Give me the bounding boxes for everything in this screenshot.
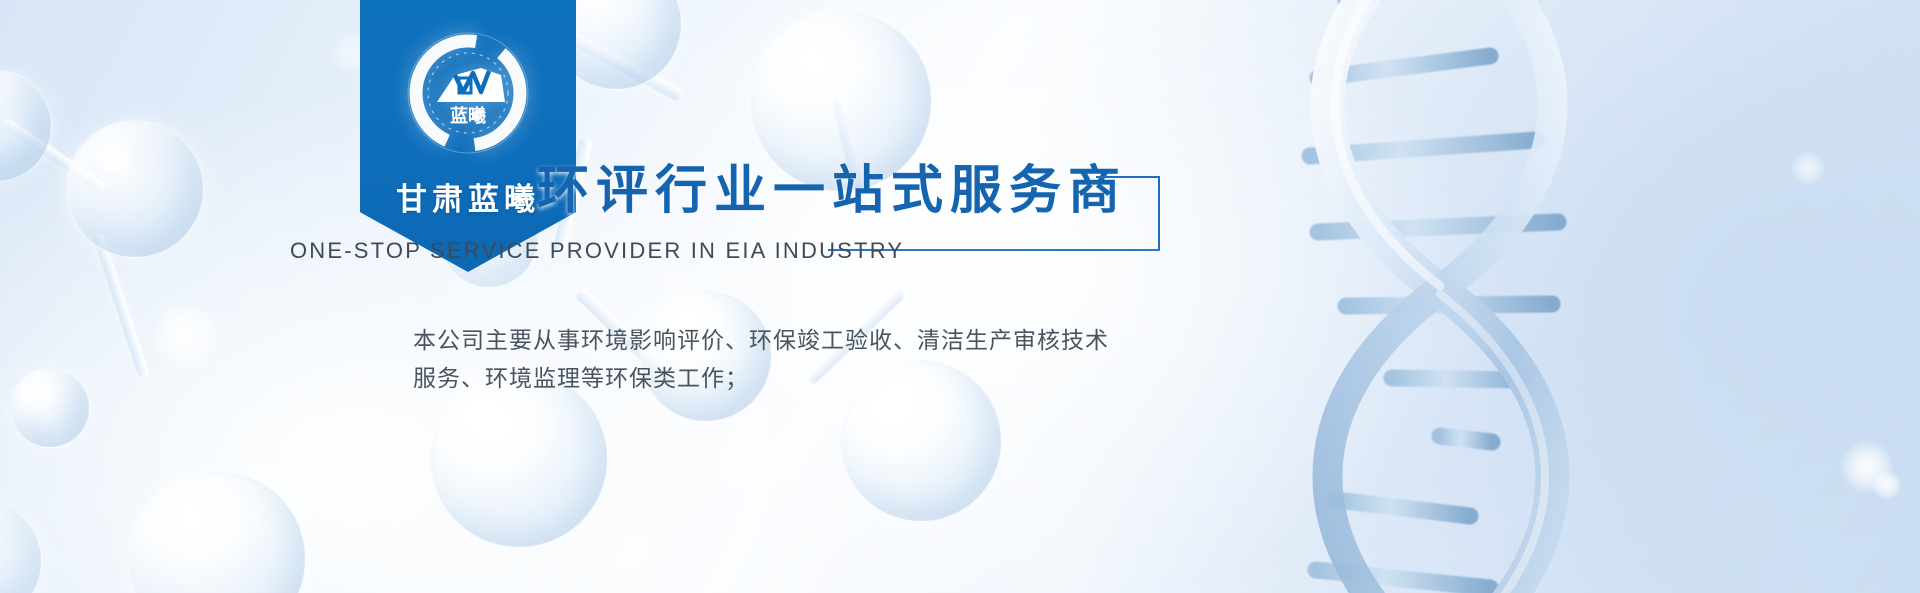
- bokeh-highlight: [1872, 470, 1902, 500]
- brand-ribbon-badge: 蓝曦 甘肃蓝曦: [360, 0, 576, 272]
- connector-line-top: [1096, 176, 1160, 178]
- molecule-node: [128, 470, 306, 593]
- ribbon-company-name: 甘肃蓝曦: [396, 174, 540, 219]
- logo-inner-text: 蓝曦: [450, 105, 486, 127]
- lanxi-circle-logo-icon: 蓝曦: [393, 18, 543, 168]
- molecule-node: [66, 120, 204, 258]
- description-line-1: 本公司主要从事环境影响评价、环保竣工验收、清洁生产审核技术: [413, 322, 1203, 360]
- bokeh-highlight: [36, 410, 78, 452]
- dna-double-helix-graphic: [1140, 0, 1840, 593]
- description-line-2: 服务、环境监理等环保类工作；: [413, 360, 1203, 398]
- molecule-bond: [1, 117, 107, 193]
- bokeh-highlight: [1790, 150, 1826, 186]
- english-subtitle: ONE-STOP SERVICE PROVIDER IN EIA INDUSTR…: [290, 238, 904, 264]
- molecule-node: [0, 70, 52, 182]
- bokeh-highlight: [150, 300, 220, 370]
- background-decoration-layer: [0, 0, 1920, 593]
- molecule-bond: [565, 30, 686, 103]
- company-description: 本公司主要从事环境影响评价、环保竣工验收、清洁生产审核技术 服务、环境监理等环保…: [413, 322, 1203, 398]
- bokeh-highlight: [600, 520, 660, 580]
- company-hero-banner: 蓝曦 甘肃蓝曦 环评行业一站式服务商 ONE-STOP SERVICE PROV…: [0, 0, 1920, 593]
- molecule-node: [10, 368, 90, 448]
- molecule-node: [0, 500, 42, 593]
- bokeh-highlight: [1840, 440, 1894, 494]
- page-headline: 环评行业一站式服务商: [537, 148, 1127, 223]
- bokeh-highlight: [210, 455, 320, 565]
- molecule-bond: [93, 232, 150, 378]
- connector-line-vertical: [1158, 176, 1160, 250]
